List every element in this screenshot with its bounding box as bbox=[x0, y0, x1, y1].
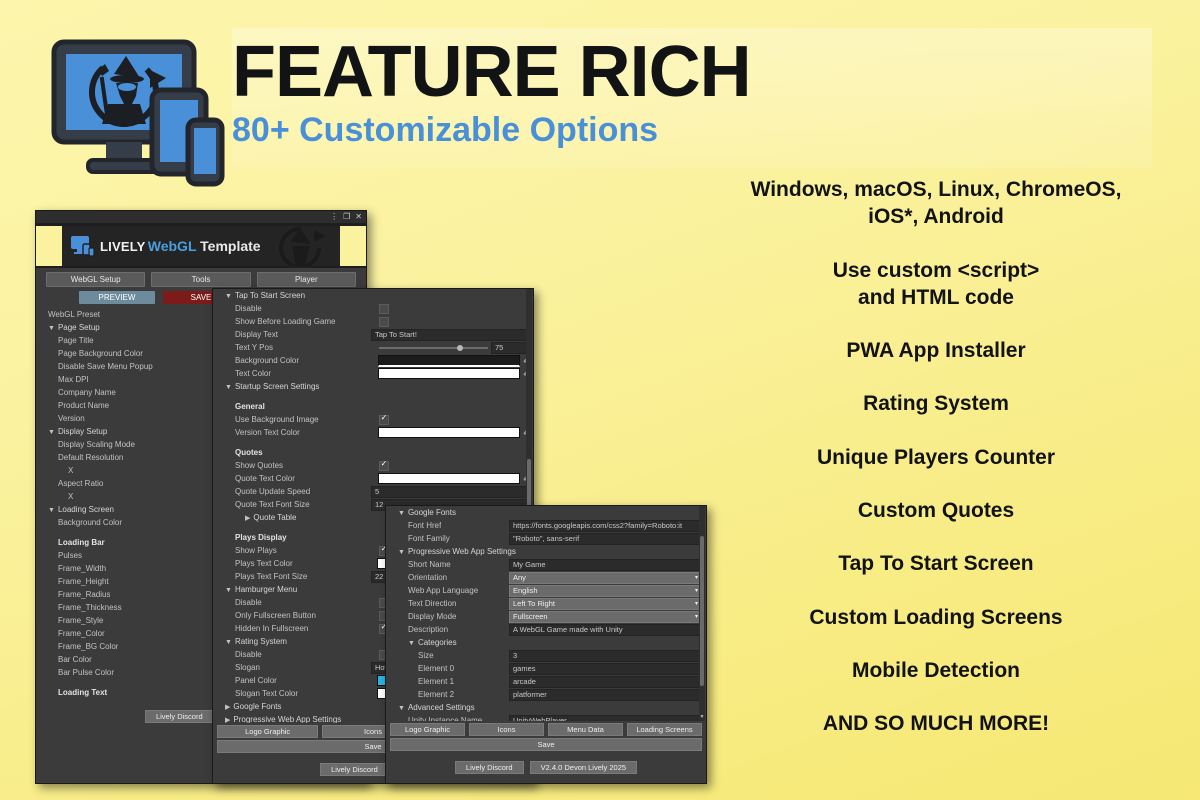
inspector-row[interactable]: Display TextTap To Start! bbox=[213, 328, 533, 341]
banner-pad-right bbox=[340, 226, 366, 266]
save-button-front[interactable]: Save bbox=[390, 738, 702, 751]
feature-line: Use custom <script> bbox=[672, 257, 1200, 284]
color-field[interactable]: ✐ bbox=[378, 427, 529, 438]
field-label: Text Y Pos bbox=[219, 343, 273, 352]
chevron-down-icon[interactable]: ▼ bbox=[48, 325, 55, 332]
inspector-row[interactable]: Short NameMy Game bbox=[386, 558, 706, 571]
feature-list: Windows, macOS, Linux, ChromeOS,iOS*, An… bbox=[672, 176, 1200, 764]
feature-item: Custom Loading Screens bbox=[672, 604, 1200, 631]
color-field[interactable]: ✐ bbox=[378, 355, 529, 367]
foldout-label: ▼Google Fonts bbox=[392, 508, 456, 517]
foldout-label: ▶Progressive Web App Settings bbox=[219, 715, 341, 723]
field-label: Disable Save Menu Popup bbox=[42, 362, 153, 371]
field-label: Use Background Image bbox=[219, 415, 319, 424]
foldout-text: Google Fonts bbox=[408, 508, 456, 517]
foldout-label: ▼Startup Screen Settings bbox=[219, 382, 319, 391]
field-value[interactable]: ✐ bbox=[378, 355, 529, 367]
inspector-row[interactable]: Element 1arcade bbox=[386, 675, 706, 688]
color-swatch[interactable] bbox=[378, 368, 520, 379]
foldout-text: Progressive Web App Settings bbox=[233, 715, 341, 723]
slider-with-value[interactable]: 75 bbox=[379, 342, 529, 354]
bottom-tab-row-front[interactable]: Logo GraphicIconsMenu DataLoading Screen… bbox=[386, 721, 706, 738]
feature-line: Unique Players Counter bbox=[672, 444, 1200, 471]
foldout-label: ▼Loading Screen bbox=[42, 505, 114, 514]
chevron-down-icon[interactable]: ▾ bbox=[695, 587, 698, 594]
inspector-row[interactable]: Element 0games bbox=[386, 662, 706, 675]
field-value[interactable]: 5 bbox=[371, 486, 529, 498]
close-icon[interactable]: ✕ bbox=[355, 213, 362, 221]
slider-track[interactable] bbox=[379, 347, 488, 349]
inspector-row[interactable]: DescriptionA WebGL Game made with Unity bbox=[386, 623, 706, 636]
field-label: Display Scaling Mode bbox=[42, 440, 135, 449]
field-label: Short Name bbox=[392, 560, 451, 569]
foldout-label: ▼Rating System bbox=[219, 637, 287, 646]
field-value[interactable]: arcade bbox=[509, 676, 702, 688]
chevron-down-icon[interactable]: ▼ bbox=[225, 587, 232, 594]
feature-line: Mobile Detection bbox=[672, 657, 1200, 684]
field-label: Show Before Loading Game bbox=[219, 317, 336, 326]
title-block: FEATURE RICH 80+ Customizable Options bbox=[232, 36, 992, 149]
page-title: FEATURE RICH bbox=[232, 36, 992, 108]
field-label: Text Direction bbox=[392, 599, 456, 608]
footer-button[interactable]: Lively Discord bbox=[145, 710, 214, 723]
field-label: Company Name bbox=[42, 388, 116, 397]
feature-item: Mobile Detection bbox=[672, 657, 1200, 684]
field-label: Slogan Text Color bbox=[219, 689, 298, 698]
inspector-body-front[interactable]: ▼Google FontsFont Hrefhttps://fonts.goog… bbox=[386, 506, 706, 721]
popup-value: English bbox=[513, 586, 538, 595]
field-label: Frame_BG Color bbox=[42, 642, 118, 651]
field-label: X bbox=[42, 466, 73, 475]
dropdown[interactable]: Fullscreen▾ bbox=[509, 611, 702, 623]
field-label: Version Text Color bbox=[219, 428, 300, 437]
foldout-text: Loading Screen bbox=[58, 505, 114, 514]
field-label: Quote Text Color bbox=[219, 474, 295, 483]
feature-item: PWA App Installer bbox=[672, 337, 1200, 364]
inspector-row[interactable]: ▼Categories bbox=[386, 636, 706, 649]
field-label: Product Name bbox=[42, 401, 109, 410]
color-swatch[interactable] bbox=[378, 473, 520, 484]
banner-line1: LIVELY bbox=[100, 239, 146, 254]
group-header: Loading Bar bbox=[42, 538, 105, 547]
inspector-row[interactable]: Text Color✐ bbox=[213, 367, 533, 380]
chevron-down-icon[interactable]: ▼ bbox=[225, 293, 232, 300]
feature-line: and HTML code bbox=[672, 284, 1200, 311]
preview-button[interactable]: PREVIEW bbox=[79, 291, 155, 304]
dropdown[interactable]: Any▾ bbox=[509, 572, 702, 584]
field-label: Plays Text Color bbox=[219, 559, 293, 568]
text-input[interactable]: "Roboto", sans-serif bbox=[509, 533, 702, 545]
field-label: Display Mode bbox=[392, 612, 456, 621]
chevron-down-icon[interactable]: ▾ bbox=[695, 613, 698, 620]
feature-item: Custom Quotes bbox=[672, 497, 1200, 524]
foldout-label: ▼Categories bbox=[392, 638, 457, 647]
inspector-row[interactable]: ▼Google Fonts bbox=[386, 506, 706, 519]
field-value[interactable]: Left To Right▾ bbox=[509, 598, 702, 610]
banner-pad-left bbox=[36, 226, 62, 266]
field-value[interactable]: 75 bbox=[379, 342, 529, 354]
bottom-tab-logo-graphic[interactable]: Logo Graphic bbox=[217, 725, 318, 738]
inspector-row[interactable]: Display ModeFullscreen▾ bbox=[386, 610, 706, 623]
field-label: Panel Color bbox=[219, 676, 277, 685]
color-field[interactable]: ✐ bbox=[378, 368, 529, 379]
inspector-row[interactable]: Quotes bbox=[213, 446, 533, 459]
feature-item: Rating System bbox=[672, 390, 1200, 417]
inspector-row[interactable]: ▼Tap To Start Screen bbox=[213, 289, 533, 302]
inspector-row[interactable]: Quote Text Color✐ bbox=[213, 472, 533, 485]
field-value[interactable] bbox=[379, 461, 529, 471]
banner-text: LIVELY WebGL Template bbox=[100, 239, 261, 254]
banner-line2: WebGL Template bbox=[148, 238, 261, 254]
popup-value: Fullscreen bbox=[513, 612, 548, 621]
field-label: Max DPI bbox=[42, 375, 89, 384]
text-input[interactable]: 5 bbox=[371, 486, 529, 498]
chevron-down-icon[interactable]: ▼ bbox=[398, 510, 405, 517]
inspector-row[interactable]: Unity Instance NameUnityWebPlayer bbox=[386, 714, 706, 721]
slider-knob[interactable] bbox=[457, 345, 463, 351]
field-value[interactable]: platformer bbox=[509, 689, 702, 701]
text-input[interactable]: 3 bbox=[509, 650, 702, 662]
foldout-label: ▼Advanced Settings bbox=[392, 703, 475, 712]
checkbox[interactable] bbox=[379, 461, 389, 471]
field-label: Frame_Width bbox=[42, 564, 106, 573]
field-value[interactable]: ✐ bbox=[378, 368, 529, 379]
wizard-watermark-icon bbox=[268, 226, 332, 266]
foldout-text: Progressive Web App Settings bbox=[408, 547, 516, 556]
bottom-tab-logo-graphic[interactable]: Logo Graphic bbox=[390, 723, 465, 736]
chevron-down-icon[interactable]: ▼ bbox=[398, 549, 405, 556]
field-value[interactable]: A WebGL Game made with Unity bbox=[509, 624, 702, 636]
footer-button[interactable]: Lively Discord bbox=[320, 763, 389, 776]
field-label: Slogan bbox=[219, 663, 260, 672]
page-subtitle: 80+ Customizable Options bbox=[232, 112, 992, 149]
kebab-menu-icon[interactable]: ⋮ bbox=[330, 213, 338, 221]
chevron-down-icon[interactable]: ▼ bbox=[225, 384, 232, 391]
feature-line: PWA App Installer bbox=[672, 337, 1200, 364]
foldout-label: ▼Page Setup bbox=[42, 323, 100, 332]
bottom-tab-menu-data[interactable]: Menu Data bbox=[548, 723, 623, 736]
chevron-down-icon[interactable]: ▼ bbox=[408, 640, 415, 647]
field-label: Display Text bbox=[219, 330, 278, 339]
foldout-label: ▼Tap To Start Screen bbox=[219, 291, 305, 300]
foldout-text: Quote Table bbox=[253, 513, 296, 522]
inspector-row[interactable]: Disable bbox=[213, 302, 533, 315]
field-label: Frame_Color bbox=[42, 629, 105, 638]
tab-webgl-setup[interactable]: WebGL Setup bbox=[46, 272, 145, 287]
field-label: Show Plays bbox=[219, 546, 277, 555]
checkbox[interactable] bbox=[379, 304, 389, 314]
foldout-text: Page Setup bbox=[58, 323, 100, 332]
field-label: Aspect Ratio bbox=[42, 479, 103, 488]
chevron-down-icon[interactable]: ▼ bbox=[48, 429, 55, 436]
inspector-row[interactable]: Text Y Pos75 bbox=[213, 341, 533, 354]
feature-line: Custom Quotes bbox=[672, 497, 1200, 524]
foldout-label: ▼Display Setup bbox=[42, 427, 107, 436]
inspector-row[interactable]: Text DirectionLeft To Right▾ bbox=[386, 597, 706, 610]
chevron-right-icon[interactable]: ▶ bbox=[225, 704, 230, 711]
footer-button[interactable]: V2.4.0 Devon Lively 2025 bbox=[530, 761, 637, 774]
foldout-label: ▼Hamburger Menu bbox=[219, 585, 297, 594]
foldout-text: Advanced Settings bbox=[408, 703, 475, 712]
foldout-text: Display Setup bbox=[58, 427, 107, 436]
field-label: Bar Color bbox=[42, 655, 92, 664]
text-input[interactable]: My Game bbox=[509, 559, 702, 571]
text-input[interactable]: arcade bbox=[509, 676, 702, 688]
feature-line: Tap To Start Screen bbox=[672, 550, 1200, 577]
foldout-label: ▶Google Fonts bbox=[219, 702, 281, 711]
field-label: Plays Text Font Size bbox=[219, 572, 307, 581]
field-label: Frame_Height bbox=[42, 577, 109, 586]
chevron-down-icon[interactable]: ▼ bbox=[225, 639, 232, 646]
bottom-tab-icons[interactable]: Icons bbox=[469, 723, 544, 736]
field-label: Hidden In Fullscreen bbox=[219, 624, 308, 633]
inspector-row[interactable]: Font Hrefhttps://fonts.googleapis.com/cs… bbox=[386, 519, 706, 532]
field-label: X bbox=[42, 492, 73, 501]
devices-mini-icon bbox=[70, 234, 96, 258]
inspector-row[interactable]: ▼Progressive Web App Settings bbox=[386, 545, 706, 558]
field-label: Web App Language bbox=[392, 586, 478, 595]
field-label: Disable bbox=[219, 304, 262, 313]
feature-line: Windows, macOS, Linux, ChromeOS, bbox=[672, 176, 1200, 203]
popup-value: Any bbox=[513, 573, 526, 582]
footer-button[interactable]: Lively Discord bbox=[455, 761, 524, 774]
field-label: Element 2 bbox=[392, 690, 454, 699]
foldout-text: Rating System bbox=[235, 637, 287, 646]
inspector-row[interactable]: Element 2platformer bbox=[386, 688, 706, 701]
text-input[interactable]: platformer bbox=[509, 689, 702, 701]
field-label: Font Href bbox=[392, 521, 441, 530]
field-label: Frame_Radius bbox=[42, 590, 110, 599]
text-input[interactable]: games bbox=[509, 663, 702, 675]
color-swatch[interactable] bbox=[378, 427, 520, 438]
text-input[interactable]: A WebGL Game made with Unity bbox=[509, 624, 702, 636]
scroll-down-arrow[interactable]: ▼ bbox=[699, 714, 705, 720]
vertical-scrollbar[interactable]: ▼ bbox=[699, 506, 705, 721]
feature-item: Unique Players Counter bbox=[672, 444, 1200, 471]
feature-item: AND SO MUCH MORE! bbox=[672, 710, 1200, 737]
field-value[interactable] bbox=[379, 317, 529, 327]
foldout-text: Startup Screen Settings bbox=[235, 382, 320, 391]
field-label: Font Family bbox=[392, 534, 450, 543]
field-label: Frame_Style bbox=[42, 616, 103, 625]
field-label: Unity Instance Name bbox=[392, 716, 482, 721]
inspector-row[interactable]: Use Background Image bbox=[213, 413, 533, 426]
field-value[interactable]: games bbox=[509, 663, 702, 675]
field-value[interactable]: 3 bbox=[509, 650, 702, 662]
text-input[interactable]: https://fonts.googleapis.com/css2?family… bbox=[509, 520, 702, 532]
inspector-row bbox=[213, 439, 533, 446]
field-value[interactable]: My Game bbox=[509, 559, 702, 571]
field-label: Text Color bbox=[219, 369, 271, 378]
feature-line: iOS*, Android bbox=[672, 203, 1200, 230]
inspector-row[interactable]: Background Color✐ bbox=[213, 354, 533, 367]
inspector-row[interactable]: ▼Startup Screen Settings bbox=[213, 380, 533, 393]
inspector-row[interactable]: Quote Update Speed5 bbox=[213, 485, 533, 498]
field-value[interactable]: ✐ bbox=[378, 427, 529, 438]
field-label: Bar Pulse Color bbox=[42, 668, 114, 677]
field-label: Orientation bbox=[392, 573, 447, 582]
chevron-down-icon[interactable]: ▼ bbox=[48, 507, 55, 514]
field-label: Size bbox=[392, 651, 434, 660]
field-label: Quote Update Speed bbox=[219, 487, 310, 496]
field-label: Disable bbox=[219, 650, 262, 659]
chevron-right-icon[interactable]: ▶ bbox=[225, 717, 230, 723]
text-input[interactable]: UnityWebPlayer bbox=[509, 715, 702, 722]
tab-tools[interactable]: Tools bbox=[151, 272, 250, 287]
window-footer-front[interactable]: Lively DiscordV2.4.0 Devon Lively 2025 bbox=[386, 751, 706, 780]
window-tab-row[interactable]: WebGL SetupToolsPlayer bbox=[36, 268, 366, 289]
chevron-down-icon[interactable]: ▾ bbox=[695, 574, 698, 581]
devices-logo-icon bbox=[40, 32, 230, 192]
field-value[interactable]: "Roboto", sans-serif bbox=[509, 533, 702, 545]
group-header: Loading Text bbox=[42, 688, 107, 697]
foldout-text: Google Fonts bbox=[233, 702, 281, 711]
field-value[interactable]: UnityWebPlayer bbox=[509, 715, 702, 722]
field-value[interactable]: https://fonts.googleapis.com/css2?family… bbox=[509, 520, 702, 532]
maximize-icon[interactable]: ❐ bbox=[343, 213, 350, 221]
chevron-down-icon[interactable]: ▾ bbox=[695, 600, 698, 607]
color-field[interactable]: ✐ bbox=[378, 473, 529, 484]
feature-item: Use custom <script>and HTML code bbox=[672, 257, 1200, 312]
inspector-row[interactable]: Web App LanguageEnglish▾ bbox=[386, 584, 706, 597]
dropdown[interactable]: English▾ bbox=[509, 585, 702, 597]
field-label: WebGL Preset bbox=[42, 310, 100, 319]
banner-brand: LIVELY WebGL Template bbox=[62, 234, 261, 258]
dropdown[interactable]: Left To Right▾ bbox=[509, 598, 702, 610]
window-titlebar[interactable]: ⋮ ❐ ✕ bbox=[36, 211, 366, 224]
field-value[interactable] bbox=[379, 415, 529, 425]
popup-value: Left To Right bbox=[513, 599, 555, 608]
feature-line: Rating System bbox=[672, 390, 1200, 417]
foldout-text: Categories bbox=[418, 638, 457, 647]
feature-line: Custom Loading Screens bbox=[672, 604, 1200, 631]
field-label: Quote Text Font Size bbox=[219, 500, 310, 509]
text-input[interactable]: Tap To Start! bbox=[371, 329, 529, 341]
scrollbar-thumb[interactable] bbox=[700, 536, 704, 686]
foldout-label: ▶Quote Table bbox=[219, 513, 296, 522]
checkbox[interactable] bbox=[379, 415, 389, 425]
field-label: Pulses bbox=[42, 551, 82, 560]
inspector-row[interactable]: Size3 bbox=[386, 649, 706, 662]
lively-webgl-template-logo bbox=[40, 32, 230, 192]
chevron-right-icon[interactable]: ▶ bbox=[245, 515, 250, 522]
field-value[interactable]: Any▾ bbox=[509, 572, 702, 584]
field-value[interactable]: Tap To Start! bbox=[371, 329, 529, 341]
foldout-text: Tap To Start Screen bbox=[235, 291, 305, 300]
field-label: Element 1 bbox=[392, 677, 454, 686]
field-value[interactable] bbox=[379, 304, 529, 314]
inspector-row[interactable]: Show Before Loading Game bbox=[213, 315, 533, 328]
field-value[interactable]: Fullscreen▾ bbox=[509, 611, 702, 623]
inspector-row bbox=[213, 393, 533, 400]
inspector-row[interactable]: Version Text Color✐ bbox=[213, 426, 533, 439]
chevron-down-icon[interactable]: ▼ bbox=[398, 705, 405, 712]
field-label: Page Background Color bbox=[42, 349, 143, 358]
slider-number-input[interactable]: 75 bbox=[491, 342, 529, 354]
inspector-row[interactable]: OrientationAny▾ bbox=[386, 571, 706, 584]
group-header: General bbox=[219, 402, 265, 411]
inspector-row[interactable]: General bbox=[213, 400, 533, 413]
feature-line: AND SO MUCH MORE! bbox=[672, 710, 1200, 737]
field-label: Only Fullscreen Button bbox=[219, 611, 316, 620]
checkbox[interactable] bbox=[379, 317, 389, 327]
foldout-text: Hamburger Menu bbox=[235, 585, 297, 594]
field-label: Element 0 bbox=[392, 664, 454, 673]
group-header: Quotes bbox=[219, 448, 263, 457]
field-value[interactable]: English▾ bbox=[509, 585, 702, 597]
banner-inner: LIVELY WebGL Template bbox=[62, 226, 340, 266]
field-label: Background Color bbox=[219, 356, 299, 365]
field-label: Show Quotes bbox=[219, 461, 283, 470]
foldout-label: ▼Progressive Web App Settings bbox=[392, 547, 516, 556]
color-swatch[interactable] bbox=[378, 355, 520, 367]
inspector-row[interactable]: Font Family"Roboto", sans-serif bbox=[386, 532, 706, 545]
feature-item: Windows, macOS, Linux, ChromeOS,iOS*, An… bbox=[672, 176, 1200, 231]
inspector-row[interactable]: Show Quotes bbox=[213, 459, 533, 472]
slider[interactable] bbox=[379, 343, 488, 352]
field-label: Description bbox=[392, 625, 448, 634]
field-value[interactable]: ✐ bbox=[378, 473, 529, 484]
bottom-tab-loading-screens[interactable]: Loading Screens bbox=[627, 723, 702, 736]
group-header: Plays Display bbox=[219, 533, 287, 542]
window-banner: LIVELY WebGL Template bbox=[36, 224, 366, 268]
tab-player[interactable]: Player bbox=[257, 272, 356, 287]
field-label: Page Title bbox=[42, 336, 94, 345]
field-label: Frame_Thickness bbox=[42, 603, 122, 612]
field-label: Version bbox=[42, 414, 85, 423]
unity-window-webgl-setup-front[interactable]: ▼Google FontsFont Hrefhttps://fonts.goog… bbox=[385, 505, 707, 784]
field-label: Disable bbox=[219, 598, 262, 607]
inspector-row[interactable]: ▼Advanced Settings bbox=[386, 701, 706, 714]
feature-item: Tap To Start Screen bbox=[672, 550, 1200, 577]
field-label: Default Resolution bbox=[42, 453, 123, 462]
field-label: Background Color bbox=[42, 518, 122, 527]
